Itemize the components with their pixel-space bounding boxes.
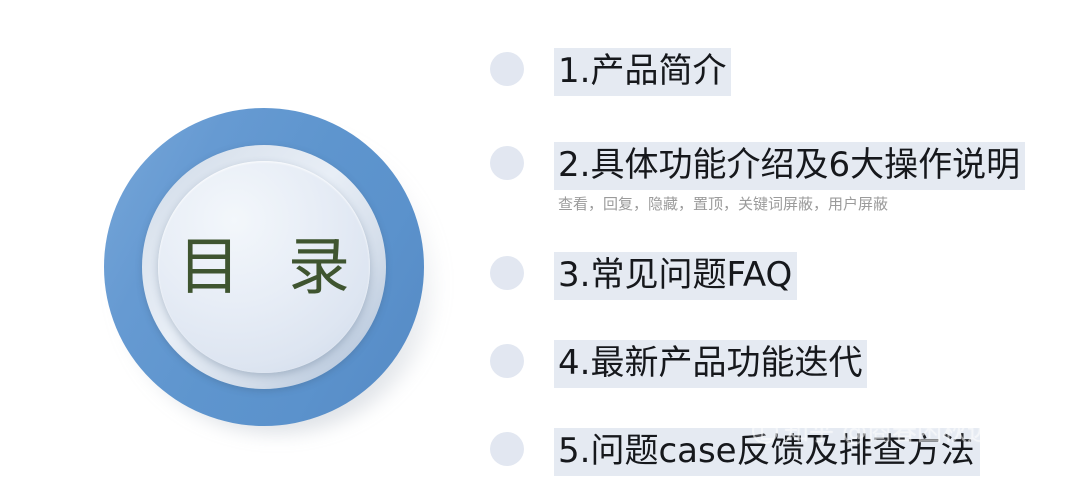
bullet-dot-icon [490,256,524,290]
agenda-list: 1.产品简介 2.具体功能介绍及6大操作说明 查看，回复，隐藏，置顶，关键词屏蔽… [490,0,1080,488]
agenda-item-1[interactable]: 1.产品简介 [490,48,731,96]
bullet-dot-icon [490,52,524,86]
badge-inner-disc: 目 录 [158,161,370,373]
slide-canvas: 目 录 1.产品简介 2.具体功能介绍及6大操作说明 查看，回复，隐藏，置顶，关… [0,0,1080,488]
agenda-item-4-body: 4.最新产品功能迭代 [554,340,867,388]
agenda-item-2-title: 2.具体功能介绍及6大操作说明 [554,142,1025,190]
agenda-item-4-title: 4.最新产品功能迭代 [554,340,867,388]
agenda-item-5[interactable]: 5.问题case反馈及排查方法 [490,428,980,476]
agenda-item-5-title: 5.问题case反馈及排查方法 [554,428,980,476]
agenda-item-1-body: 1.产品简介 [554,48,731,96]
toc-circle-badge: 目 录 [104,106,452,436]
bullet-dot-icon [490,432,524,466]
agenda-item-4[interactable]: 4.最新产品功能迭代 [490,340,867,388]
bullet-dot-icon [490,146,524,180]
agenda-item-2[interactable]: 2.具体功能介绍及6大操作说明 查看，回复，隐藏，置顶，关键词屏蔽，用户屏蔽 [490,142,1025,213]
agenda-item-2-subtitle: 查看，回复，隐藏，置顶，关键词屏蔽，用户屏蔽 [558,195,1025,213]
agenda-item-3-title: 3.常见问题FAQ [554,252,797,300]
bullet-dot-icon [490,344,524,378]
agenda-item-2-body: 2.具体功能介绍及6大操作说明 查看，回复，隐藏，置顶，关键词屏蔽，用户屏蔽 [554,142,1025,213]
badge-label: 目 录 [164,236,364,298]
agenda-item-3[interactable]: 3.常见问题FAQ [490,252,797,300]
agenda-item-1-title: 1.产品简介 [554,48,731,96]
agenda-item-3-body: 3.常见问题FAQ [554,252,797,300]
agenda-item-5-body: 5.问题case反馈及排查方法 [554,428,980,476]
